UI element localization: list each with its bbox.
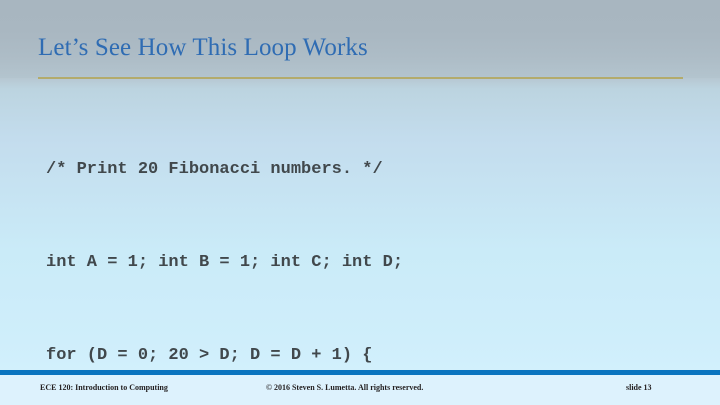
- slide-footer: ECE 120: Introduction to Computing © 201…: [0, 375, 720, 405]
- code-line: for (D = 0; 20 > D; D = D + 1) {: [46, 340, 403, 371]
- page-title: Let’s See How This Loop Works: [38, 33, 368, 63]
- code-line: /* Print 20 Fibonacci numbers. */: [46, 154, 403, 185]
- footer-copyright-label: © 2016 Steven S. Lumetta. All rights res…: [266, 383, 423, 392]
- footer-course-label: ECE 120: Introduction to Computing: [40, 383, 168, 392]
- title-divider: [38, 77, 683, 79]
- code-block: /* Print 20 Fibonacci numbers. */ int A …: [46, 92, 403, 405]
- code-line: int A = 1; int B = 1; int C; int D;: [46, 247, 403, 278]
- footer-slide-number: slide 13: [626, 383, 652, 392]
- presentation-slide: Let’s See How This Loop Works /* Print 2…: [0, 0, 720, 405]
